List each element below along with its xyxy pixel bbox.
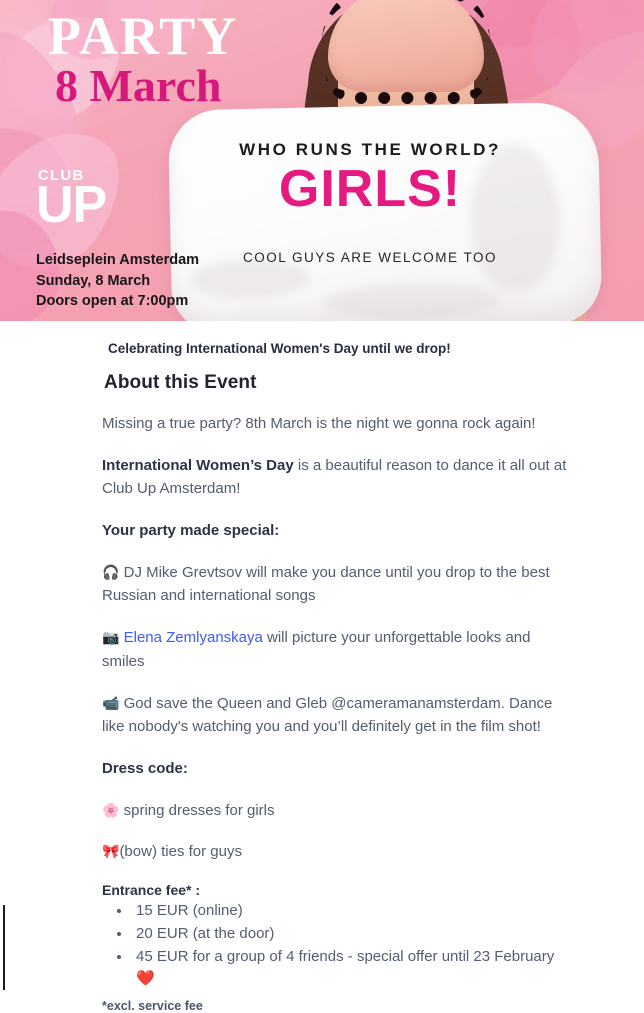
- dj-text: DJ Mike Grevtsov will make you dance unt…: [102, 564, 550, 605]
- list-item: 20 EUR (at the door): [132, 923, 572, 946]
- paragraph-dress-code-head: Dress code:: [0, 739, 644, 781]
- headphones-icon: 🎧: [102, 565, 119, 581]
- venue-doors-time: Doors open at 7:00pm: [36, 291, 199, 312]
- banner-headline-party: PARTY: [48, 8, 238, 65]
- club-up-logo: CLUB UP: [36, 168, 106, 231]
- sleep-mask-frill-top: [322, 0, 490, 42]
- entrance-fee-list: 15 EUR (online) 20 EUR (at the door) 45 …: [0, 900, 644, 991]
- paragraph-party-special-head: Your party made special:: [0, 501, 644, 543]
- event-hero-banner: WHO RUNS THE WORLD? GIRLS! COOL GUYS ARE…: [0, 0, 644, 321]
- logo-up-text: UP: [36, 179, 106, 231]
- sleep-mask-frill-bottom: [326, 74, 488, 104]
- venue-location: Leidseplein Amsterdam: [36, 250, 199, 271]
- videographer-text: God save the Queen and Gleb @cameramanam…: [102, 695, 552, 736]
- venue-details: Leidseplein Amsterdam Sunday, 8 March Do…: [36, 250, 199, 312]
- pillow-kicker-text: WHO RUNS THE WORLD?: [170, 140, 570, 160]
- video-camera-icon: 📹: [102, 696, 119, 712]
- paragraph-dress-guys: 🎀(bow) ties for guys: [0, 822, 644, 864]
- pillow-answer-text: GIRLS!: [170, 162, 570, 217]
- party-special-bold: Your party made special:: [102, 522, 279, 539]
- dress-code-bold: Dress code:: [102, 760, 188, 777]
- camera-icon: 📷: [102, 630, 119, 646]
- banner-headline-date: 8 March: [55, 62, 222, 110]
- paragraph-dj: 🎧 DJ Mike Grevtsov will make you dance u…: [0, 543, 644, 608]
- paragraph-photographer: 📷 Elena Zemlyanskaya will picture your u…: [0, 608, 644, 673]
- dress-girls-text: spring dresses for girls: [119, 802, 274, 819]
- event-description-section: Celebrating International Women's Day un…: [0, 321, 644, 1013]
- venue-date: Sunday, 8 March: [36, 271, 199, 292]
- dress-guys-text: (bow) ties for guys: [119, 843, 242, 860]
- photographer-link[interactable]: Elena Zemlyanskaya: [124, 629, 263, 646]
- ribbon-icon: 🎀: [102, 844, 119, 860]
- event-tagline: Celebrating International Women's Day un…: [0, 321, 644, 356]
- list-item: 45 EUR for a group of 4 friends - specia…: [132, 946, 572, 992]
- left-edge-divider: [3, 905, 5, 990]
- page-title: About this Event: [0, 356, 644, 394]
- paragraph-dress-girls: 🌸 spring dresses for girls: [0, 781, 644, 823]
- paragraph-videographer: 📹 God save the Queen and Gleb @cameraman…: [0, 674, 644, 739]
- pillow-text-block: WHO RUNS THE WORLD? GIRLS! COOL GUYS ARE…: [170, 106, 600, 321]
- list-item: 15 EUR (online): [132, 900, 572, 923]
- fee-footnote: *excl. service fee: [0, 991, 644, 1013]
- paragraph-intro: Missing a true party? 8th March is the n…: [0, 394, 644, 436]
- entrance-fee-heading: Entrance fee* :: [0, 864, 644, 898]
- paragraph-womens-day: International Women’s Day is a beautiful…: [0, 436, 644, 501]
- pillow-subline-text: COOL GUYS ARE WELCOME TOO: [170, 250, 570, 265]
- womens-day-bold: International Women’s Day: [102, 457, 294, 474]
- cherry-blossom-icon: 🌸: [102, 803, 119, 819]
